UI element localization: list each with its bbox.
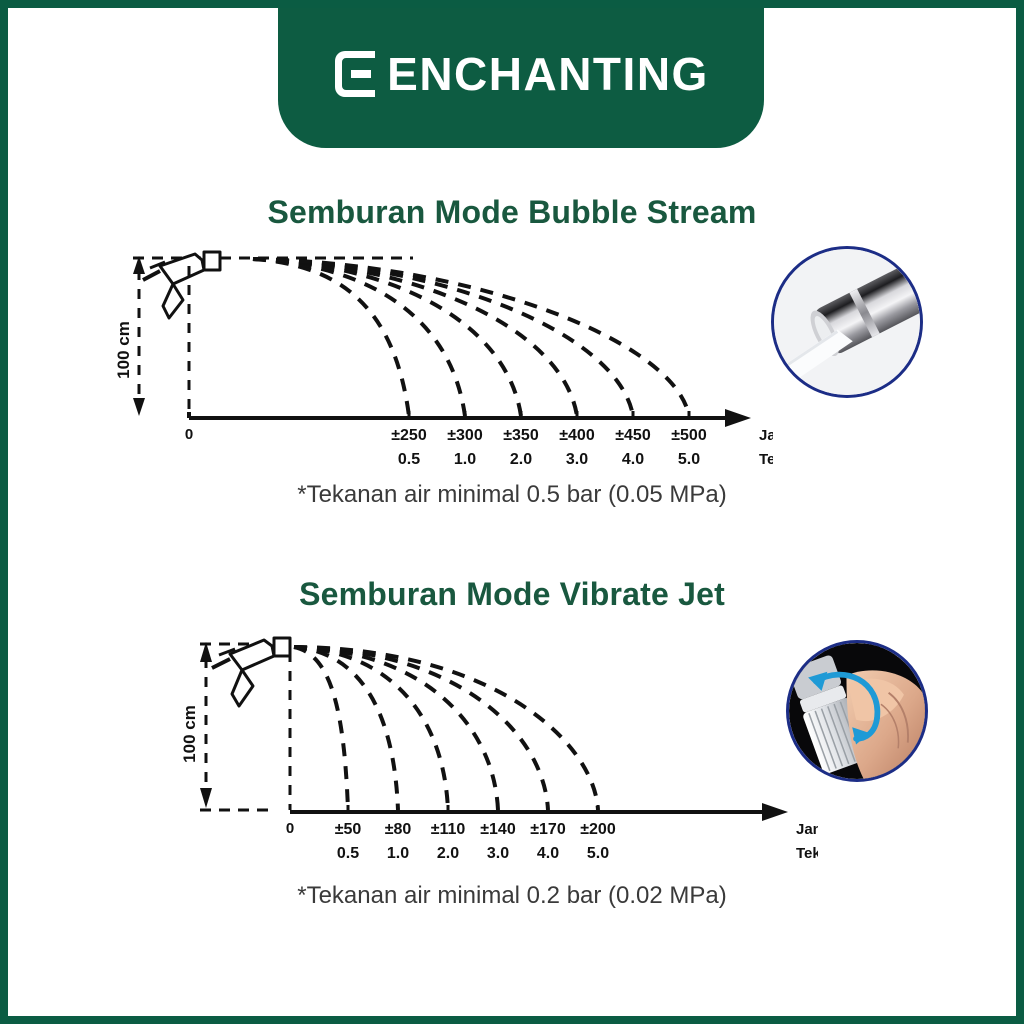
trajectory-arcs-2 [294,647,598,810]
pressure-label: 5.0 [587,845,609,862]
distance-label: ±50 [335,821,362,838]
distance-label: ±110 [431,821,466,838]
pressure-label: 2.0 [437,845,459,862]
pressure-label: 1.0 [387,845,409,862]
distance-label: ±450 [615,427,651,444]
section-title-vibrate-jet: Semburan Mode Vibrate Jet [8,576,1016,613]
trajectory-arcs [253,259,689,416]
distance-label: ±400 [559,427,595,444]
height-label-1: 100 cm [114,321,133,379]
pressure-tick-labels: 0.5 1.0 2.0 3.0 4.0 5.0 [398,451,700,468]
x-axis-title-pressure: Tekanan Air (bar) [759,451,773,468]
origin-label-1: 0 [185,426,193,443]
footnote-vibrate-jet: *Tekanan air minimal 0.2 bar (0.02 MPa) [8,882,1016,910]
distance-tick-labels-2: ±50 ±80 ±110 ±140 ±170 ±200 [335,821,616,838]
x-axis-title-distance: Jangkauan Semburan (cm) [759,427,773,444]
brand-banner: ENCHANTING [278,8,764,148]
pressure-label: 0.5 [398,451,420,468]
chart-vibrate-jet-svg: 100 cm [168,622,818,872]
section-title-bubble-stream: Semburan Mode Bubble Stream [8,194,1016,231]
x-axis-title-distance-2: Jangkauan Semburan (cm) [796,821,818,838]
x-axis-arrow-2 [762,803,788,821]
x-axis-arrow [725,409,751,427]
distance-tick-labels: ±250 ±300 ±350 ±400 ±450 ±500 [391,427,707,444]
height-label-2: 100 cm [180,705,199,763]
pressure-label: 0.5 [337,845,359,862]
photo-chrome-nozzle [771,246,923,398]
height-arrow-group-2 [200,642,212,808]
footnote-bubble-stream: *Tekanan air minimal 0.5 bar (0.05 MPa) [8,481,1016,509]
distance-label: ±80 [385,821,412,838]
pressure-label: 3.0 [487,845,509,862]
pressure-label: 5.0 [678,451,700,468]
distance-label: ±300 [447,427,483,444]
origin-label-2: 0 [286,820,294,837]
pressure-label: 1.0 [454,451,476,468]
distance-label: ±170 [530,821,566,838]
brand-name: ENCHANTING [387,51,709,97]
page-frame: ENCHANTING Semburan Mode Bubble Stream 1… [0,0,1024,1024]
distance-label: ±500 [671,427,707,444]
chart-bubble-stream-svg: 100 cm [103,240,773,470]
brand-lockup: ENCHANTING [333,49,709,99]
photo-hand-rotating-sprayer [786,640,928,782]
distance-label: ±140 [480,821,516,838]
chart-vibrate-jet: 100 cm [168,622,818,872]
pressure-label: 4.0 [537,845,559,862]
pressure-label: 4.0 [622,451,644,468]
pressure-tick-labels-2: 0.5 1.0 2.0 3.0 4.0 5.0 [337,845,609,862]
distance-label: ±200 [580,821,616,838]
bidet-sprayer-icon [143,252,220,318]
pressure-label: 2.0 [510,451,532,468]
photo-hand-rotating-sprayer-art [789,643,925,779]
bidet-sprayer-icon-2 [212,638,290,706]
distance-label: ±250 [391,427,427,444]
chart-bubble-stream: 100 cm [103,240,773,470]
pressure-label: 3.0 [566,451,588,468]
photo-chrome-nozzle-art [774,249,920,395]
enchanting-e-mark-icon [333,49,377,99]
infographic-canvas: ENCHANTING Semburan Mode Bubble Stream 1… [8,8,1016,1016]
distance-label: ±350 [503,427,539,444]
x-axis-title-pressure-2: Tekanan Air (bar) [796,845,818,862]
